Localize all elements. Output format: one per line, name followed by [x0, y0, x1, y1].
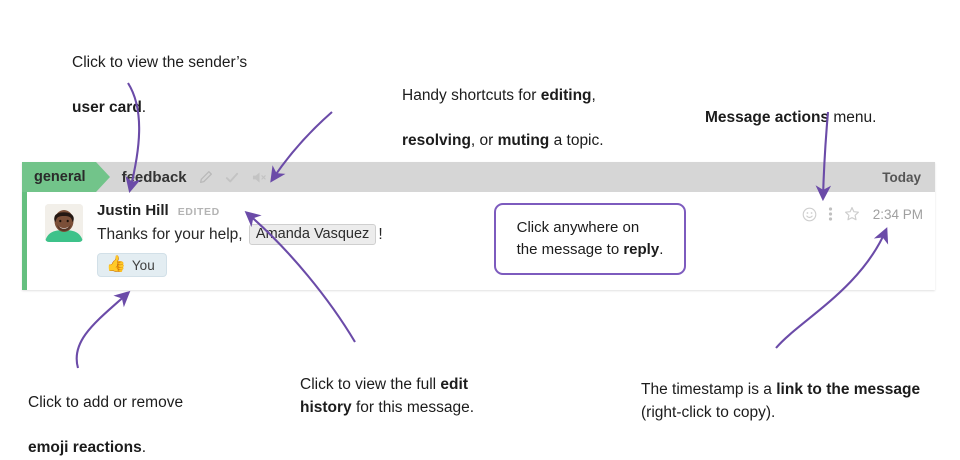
message-row[interactable]: Justin Hill EDITED Thanks for your help,…: [22, 192, 935, 290]
annotation-message-actions-rest: menu.: [829, 109, 876, 126]
annotation-shortcuts-editing: editing: [541, 87, 592, 104]
annotation-reply-callout: Click anywhere on the message to reply.: [494, 203, 686, 275]
annotation-emoji-reactions-bold: emoji reactions: [28, 439, 142, 456]
annotation-emoji-reactions: Click to add or remove emoji reactions.: [28, 370, 183, 460]
annotation-user-card-bold: user card: [72, 99, 142, 116]
mute-icon[interactable]: [251, 170, 268, 185]
date-separator-label: Today: [882, 170, 921, 185]
annotation-shortcuts-muting: muting: [498, 132, 550, 149]
annotation-reply-line1: Click anywhere on: [517, 219, 640, 236]
message-panel: general feedback Today: [22, 162, 935, 290]
annotation-reply-line2-pre: the message to: [517, 241, 624, 258]
arrow-emoji-reactions: [77, 293, 128, 368]
message-timestamp[interactable]: 2:34 PM: [873, 207, 923, 222]
message-actions-group: 2:34 PM: [802, 206, 923, 222]
annotation-timestamp-link-pre: The timestamp is a: [641, 381, 776, 398]
annotation-shortcuts-post: a topic.: [549, 132, 603, 149]
sender-name[interactable]: Justin Hill: [97, 202, 169, 219]
star-icon[interactable]: [844, 206, 860, 222]
topic-name-label[interactable]: feedback: [122, 169, 187, 186]
annotation-shortcuts-pre: Handy shortcuts for: [402, 87, 541, 104]
annotation-shortcuts: Handy shortcuts for editing, resolving, …: [402, 63, 604, 153]
message-actions-icon[interactable]: [828, 206, 833, 222]
annotation-shortcuts-mid2: , or: [471, 132, 498, 149]
annotation-user-card: Click to view the sender’s user card.: [72, 30, 247, 120]
annotation-reply-line2-post: .: [659, 241, 663, 258]
mention-pill[interactable]: Amanda Vasquez: [249, 224, 376, 245]
annotation-emoji-reactions-post: .: [142, 439, 146, 456]
message-text-after: !: [378, 226, 382, 244]
edited-badge[interactable]: EDITED: [178, 206, 220, 218]
annotation-timestamp-link: The timestamp is a link to the message (…: [641, 357, 941, 424]
message-text-before: Thanks for your help,: [97, 226, 243, 244]
emoji-picker-icon[interactable]: [802, 207, 817, 222]
annotation-reply-bold: reply: [623, 241, 659, 258]
annotation-message-actions: Message actions menu.: [705, 85, 876, 130]
annotation-emoji-reactions-line1: Click to add or remove: [28, 394, 183, 411]
annotation-timestamp-link-bold: link to the message: [776, 381, 920, 398]
reaction-chip[interactable]: 👍 You: [97, 253, 167, 277]
annotation-edit-history: Click to view the full edit history for …: [300, 352, 520, 419]
pencil-icon[interactable]: [198, 170, 213, 185]
annotation-message-actions-bold: Message actions: [705, 109, 829, 126]
stream-name-pill[interactable]: general: [22, 162, 96, 192]
reaction-label: You: [132, 258, 155, 273]
annotation-user-card-suffix: .: [142, 99, 146, 116]
annotation-user-card-line1: Click to view the sender’s: [72, 54, 247, 71]
annotation-edit-history-post: for this message.: [352, 399, 474, 416]
check-icon[interactable]: [224, 170, 240, 185]
avatar[interactable]: [45, 204, 83, 242]
topic-bar: general feedback Today: [22, 162, 935, 192]
annotation-timestamp-link-post: (right-click to copy).: [641, 404, 775, 421]
stream-name-label: general: [34, 169, 86, 185]
annotation-edit-history-pre: Click to view the full: [300, 376, 440, 393]
annotation-shortcuts-resolving: resolving: [402, 132, 471, 149]
thumbs-up-icon: 👍: [106, 257, 126, 273]
